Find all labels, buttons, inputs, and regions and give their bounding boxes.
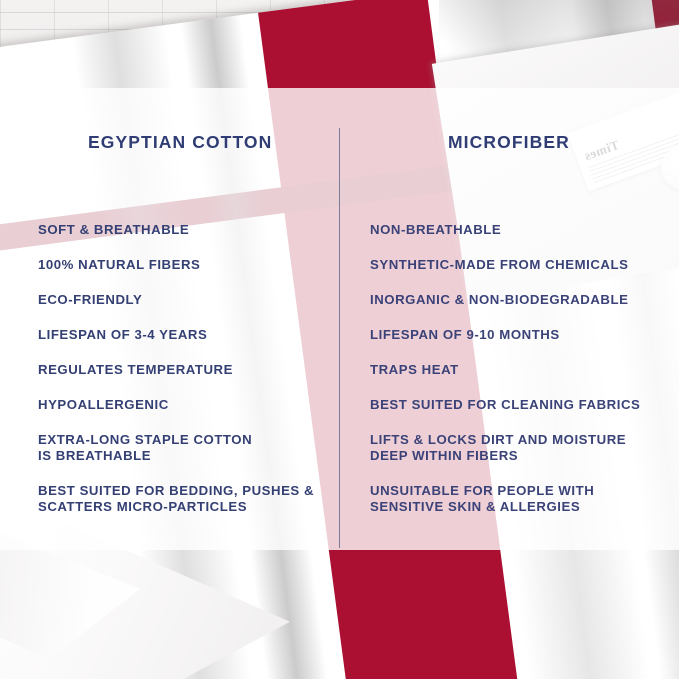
feature-item: LIFESPAN OF 9-10 MONTHS xyxy=(370,327,670,343)
comparison-panel: EGYPTIAN COTTON MICROFIBER SOFT & BREATH… xyxy=(0,88,679,550)
feature-item: REGULATES TEMPERATURE xyxy=(38,362,330,378)
feature-item: EXTRA-LONG STAPLE COTTON IS BREATHABLE xyxy=(38,432,330,464)
feature-item: UNSUITABLE FOR PEOPLE WITH SENSITIVE SKI… xyxy=(370,483,670,515)
feature-item: 100% NATURAL FIBERS xyxy=(38,257,330,273)
feature-item: ECO-FRIENDLY xyxy=(38,292,330,308)
comparison-infographic: Times EGYPTIAN COTTON MICROFIBER SOFT & … xyxy=(0,0,679,679)
column-heading-egyptian-cotton: EGYPTIAN COTTON xyxy=(88,132,272,153)
feature-list-microfiber: NON-BREATHABLE SYNTHETIC-MADE FROM CHEMI… xyxy=(370,222,670,515)
feature-item: LIFTS & LOCKS DIRT AND MOISTURE DEEP WIT… xyxy=(370,432,670,464)
feature-item: SOFT & BREATHABLE xyxy=(38,222,330,238)
feature-item: HYPOALLERGENIC xyxy=(38,397,330,413)
feature-item: BEST SUITED FOR BEDDING, PUSHES & SCATTE… xyxy=(38,483,330,515)
column-divider xyxy=(339,128,340,548)
feature-item: SYNTHETIC-MADE FROM CHEMICALS xyxy=(370,257,670,273)
feature-list-egyptian-cotton: SOFT & BREATHABLE 100% NATURAL FIBERS EC… xyxy=(38,222,330,515)
feature-item: NON-BREATHABLE xyxy=(370,222,670,238)
feature-item: BEST SUITED FOR CLEANING FABRICS xyxy=(370,397,670,413)
feature-item: INORGANIC & NON-BIODEGRADABLE xyxy=(370,292,670,308)
feature-item: TRAPS HEAT xyxy=(370,362,670,378)
column-heading-microfiber: MICROFIBER xyxy=(448,132,570,153)
feature-item: LIFESPAN OF 3-4 YEARS xyxy=(38,327,330,343)
